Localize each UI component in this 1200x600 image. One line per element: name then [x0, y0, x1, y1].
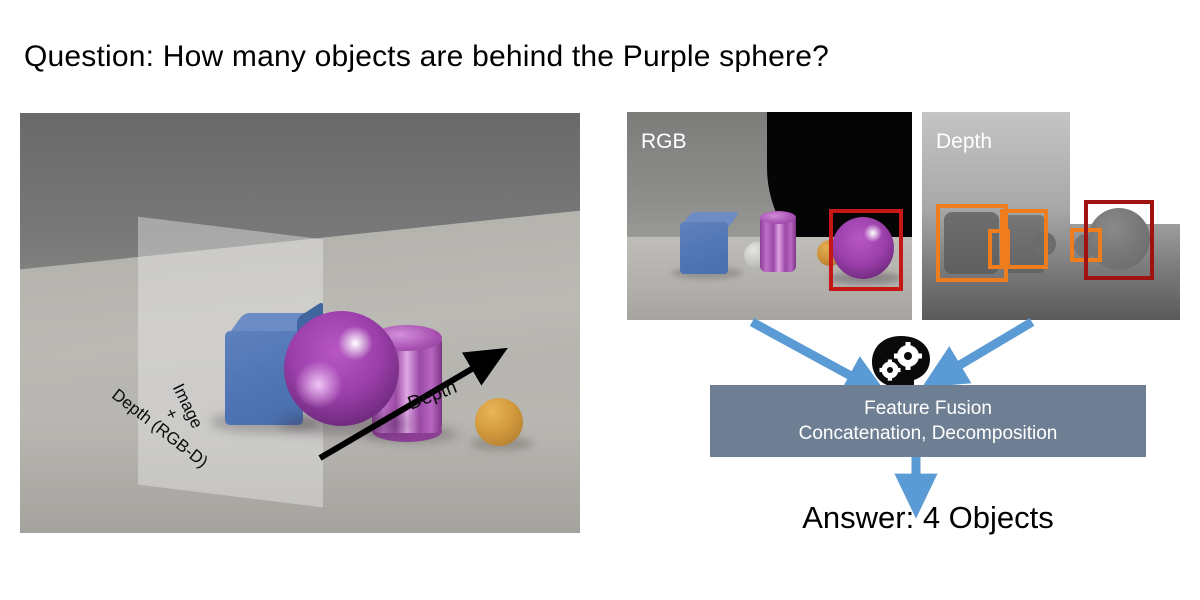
arrow-depth-to-brain — [948, 322, 1032, 372]
question-title: Question: How many objects are behind th… — [24, 40, 1124, 74]
depth-detection-box-3 — [988, 229, 1010, 269]
feature-fusion-box: Feature Fusion Concatenation, Decomposit… — [710, 385, 1146, 457]
panel-depth: Depth — [922, 112, 1180, 320]
arrow-rgb-to-brain — [752, 322, 862, 382]
brain-gears-icon — [868, 334, 934, 392]
rgb-purple-cylinder-top — [760, 211, 796, 224]
depth-target-bounding-box — [1084, 200, 1154, 280]
fusion-title: Feature Fusion — [864, 398, 992, 420]
rgbd-scene-render: Depth Image + Depth (RGB-D) — [20, 113, 580, 533]
panel-depth-label: Depth — [936, 130, 992, 154]
rgb-blue-cube — [680, 222, 728, 274]
panel-rgb: RGB — [627, 112, 912, 320]
panel-rgb-label: RGB — [641, 130, 687, 154]
rgb-purple-cylinder — [760, 217, 796, 272]
fusion-subtitle: Concatenation, Decomposition — [799, 423, 1058, 445]
rgb-target-bounding-box — [829, 209, 903, 291]
depth-axis-arrow — [20, 113, 580, 533]
answer-text: Answer: 4 Objects — [710, 500, 1146, 536]
